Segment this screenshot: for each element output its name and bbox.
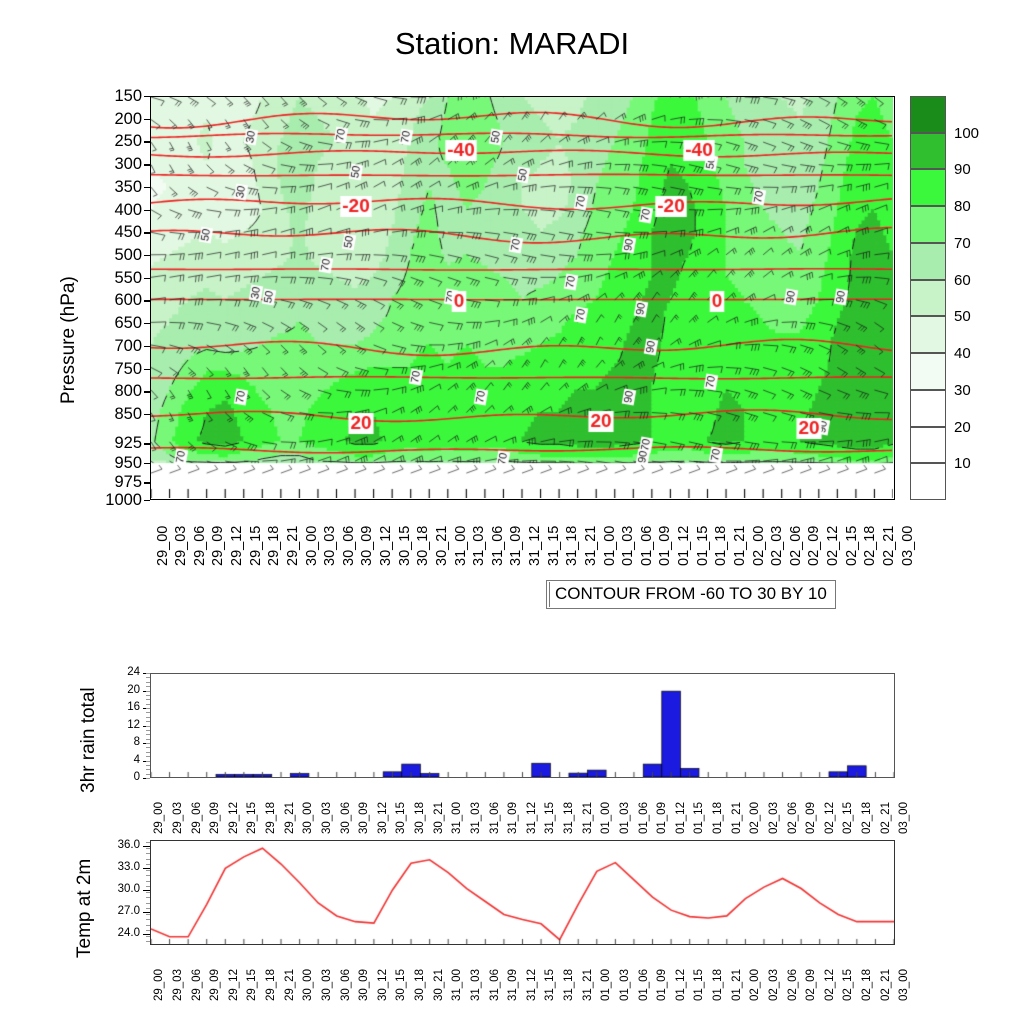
temp-y-minor-tickmark — [146, 936, 150, 937]
temp-x-tick: 02_12 — [825, 969, 837, 1001]
temp-y-tick: 36.0 — [100, 840, 140, 852]
colorbar-tick-label: 70 — [954, 236, 971, 251]
rain-y-minor-tickmark — [146, 708, 150, 709]
cross-section-x-tick: 29_09 — [211, 526, 226, 566]
cross-section-x-tick: 31_06 — [491, 526, 506, 566]
cross-section-x-tick: 30_00 — [305, 526, 320, 566]
rain-y-minor-tickmark — [146, 752, 150, 753]
temp-x-tick: 02_00 — [750, 969, 762, 1001]
rain-y-minor-tickmark — [146, 769, 150, 770]
rain-x-tick: 01_03 — [620, 802, 632, 834]
temp-x-tick: 31_15 — [545, 969, 557, 1001]
temp-x-tick: 30_18 — [415, 969, 427, 1001]
cross-section-y-tick: 500 — [82, 247, 142, 264]
temp-x-tick: 31_03 — [471, 969, 483, 1001]
cross-section-x-tick: 29_18 — [267, 526, 282, 566]
cross-section-x-tick: 02_18 — [863, 526, 878, 566]
rain-y-minor-tickmark — [146, 730, 150, 731]
temp-y-minor-tickmark — [146, 886, 150, 887]
cross-section-y-tick: 150 — [82, 88, 142, 105]
temp-y-minor-tickmark — [146, 908, 150, 909]
cross-section-y-tick: 350 — [82, 179, 142, 196]
cross-section-y-tick: 250 — [82, 133, 142, 150]
cross-section-x-tick: 30_03 — [323, 526, 338, 566]
rain-x-tick: 31_00 — [452, 802, 464, 834]
colorbar-band — [910, 169, 946, 206]
temp-y-minor-tickmark — [146, 842, 150, 843]
rain-y-minor-tickmark — [146, 682, 150, 683]
cross-section-x-tick: 30_09 — [360, 526, 375, 566]
temp-x-tick: 30_06 — [341, 969, 353, 1001]
cross-section-y-tick: 975 — [82, 474, 142, 491]
colorbar-tick-label: 80 — [954, 199, 971, 214]
cross-section-y-tickmark — [144, 119, 150, 120]
rain-y-minor-tickmark — [146, 734, 150, 735]
rain-y-minor-tickmark — [146, 691, 150, 692]
colorbar-band — [910, 316, 946, 353]
temp-x-tick: 30_21 — [434, 969, 446, 1001]
cross-section-y-axis-title: Pressure (hPa) — [58, 276, 80, 404]
cross-section-x-tick: 01_03 — [621, 526, 636, 566]
rain-x-tick: 29_12 — [229, 802, 241, 834]
rain-plot — [150, 673, 895, 778]
temp-x-tick: 30_12 — [378, 969, 390, 1001]
cross-section-y-tickmark — [144, 300, 150, 301]
temp-y-minor-tickmark — [146, 892, 150, 893]
rain-x-tick: 01_18 — [713, 802, 725, 834]
temp-x-tick: 30_15 — [396, 969, 408, 1001]
rain-y-minor-tickmark — [146, 717, 150, 718]
cross-section-y-tickmark — [144, 278, 150, 279]
temp-y-minor-tickmark — [146, 903, 150, 904]
rain-x-tick: 29_18 — [266, 802, 278, 834]
colorbar-band — [910, 353, 946, 390]
temp-y-tick: 27.0 — [100, 906, 140, 918]
cross-section-y-tick: 400 — [82, 202, 142, 219]
rain-y-tick: 8 — [106, 737, 140, 749]
colorbar-tick-label: 90 — [954, 162, 971, 177]
cross-section-x-tick: 31_21 — [584, 526, 599, 566]
colorbar-band — [910, 427, 946, 464]
temp-x-tick: 01_18 — [713, 969, 725, 1001]
rain-x-tick: 29_09 — [210, 802, 222, 834]
temp-x-tick: 02_18 — [862, 969, 874, 1001]
rain-x-tick: 02_09 — [806, 802, 818, 834]
cross-section-y-tickmark — [144, 210, 150, 211]
rain-y-tick: 0 — [106, 772, 140, 784]
cross-section-canvas — [151, 97, 893, 498]
temp-y-minor-tickmark — [146, 875, 150, 876]
cross-section-x-tick: 29_12 — [230, 526, 245, 566]
rain-y-tick: 12 — [106, 720, 140, 732]
rain-x-tick: 01_09 — [657, 802, 669, 834]
cross-section-x-tick: 02_21 — [882, 526, 897, 566]
temp-x-tick: 29_21 — [285, 969, 297, 1001]
temp-y-minor-tickmark — [146, 897, 150, 898]
colorbar-band — [910, 96, 946, 133]
rain-x-tick: 30_00 — [303, 802, 315, 834]
temp-x-tick: 29_15 — [247, 969, 259, 1001]
cross-section-y-tickmark — [144, 346, 150, 347]
cross-section-x-tick: 01_15 — [696, 526, 711, 566]
temp-y-axis-title: Temp at 2m — [74, 859, 96, 958]
meteogram-page: Station: MARADI 150200250300350400450500… — [0, 0, 1024, 1024]
contour-note: CONTOUR FROM -60 TO 30 BY 10 — [546, 580, 836, 609]
rain-canvas — [151, 674, 894, 777]
cross-section-x-tick: 01_18 — [714, 526, 729, 566]
cross-section-x-tick: 31_12 — [528, 526, 543, 566]
temp-x-tick: 31_12 — [527, 969, 539, 1001]
rain-x-tick: 30_15 — [396, 802, 408, 834]
rain-y-minor-tickmark — [146, 726, 150, 727]
cross-section-x-tick: 02_15 — [845, 526, 860, 566]
cross-section-y-tickmark — [144, 141, 150, 142]
cross-section-y-tick: 950 — [82, 455, 142, 472]
rain-y-axis-title: 3hr rain total — [78, 687, 100, 793]
temp-x-tick: 29_18 — [266, 969, 278, 1001]
cross-section-x-tick: 30_21 — [435, 526, 450, 566]
temp-x-tick: 31_09 — [508, 969, 520, 1001]
temp-x-tick: 01_09 — [657, 969, 669, 1001]
cross-section-y-tick: 600 — [82, 292, 142, 309]
cross-section-x-tick: 02_00 — [752, 526, 767, 566]
rain-x-tick: 02_15 — [843, 802, 855, 834]
temp-y-minor-tickmark — [146, 864, 150, 865]
temp-x-tick: 01_06 — [639, 969, 651, 1001]
rain-y-minor-tickmark — [146, 778, 150, 779]
cross-section-y-tickmark — [144, 443, 150, 444]
colorbar-tick-label: 40 — [954, 346, 971, 361]
cross-section-y-tickmark — [144, 482, 150, 483]
rain-y-minor-tickmark — [146, 761, 150, 762]
rain-x-tick: 02_03 — [769, 802, 781, 834]
cross-section-plot — [150, 96, 895, 500]
cross-section-y-tickmark — [144, 96, 150, 97]
rain-x-tick: 01_06 — [639, 802, 651, 834]
rain-x-tick: 30_03 — [322, 802, 334, 834]
temp-x-tick: 31_00 — [452, 969, 464, 1001]
cross-section-x-tick: 30_06 — [342, 526, 357, 566]
cross-section-x-tick: 29_03 — [174, 526, 189, 566]
temp-x-tick: 29_12 — [229, 969, 241, 1001]
temp-x-tick: 29_00 — [154, 969, 166, 1001]
cross-section-y-tickmark — [144, 414, 150, 415]
temp-y-minor-tickmark — [146, 870, 150, 871]
cross-section-x-tick: 01_09 — [658, 526, 673, 566]
cross-section-x-tick: 29_06 — [193, 526, 208, 566]
temp-canvas — [151, 841, 894, 944]
temp-plot — [150, 840, 895, 945]
temp-x-tick: 02_21 — [881, 969, 893, 1001]
cross-section-y-tick: 200 — [82, 111, 142, 128]
rain-y-minor-tickmark — [146, 673, 150, 674]
colorbar-tick-label: 50 — [954, 309, 971, 324]
cross-section-y-tickmark — [144, 164, 150, 165]
rain-y-minor-tickmark — [146, 712, 150, 713]
rain-x-tick: 01_15 — [694, 802, 706, 834]
rain-x-tick: 31_12 — [527, 802, 539, 834]
colorbar-tick-label: 10 — [954, 456, 971, 471]
temp-x-tick: 02_03 — [769, 969, 781, 1001]
cross-section-y-tick: 800 — [82, 383, 142, 400]
temp-y-minor-tickmark — [146, 848, 150, 849]
rain-y-tick: 24 — [106, 667, 140, 679]
temp-x-tick: 03_00 — [899, 969, 911, 1001]
rain-x-tick: 03_00 — [899, 802, 911, 834]
cross-section-y-tickmark — [144, 187, 150, 188]
rain-y-minor-tickmark — [146, 747, 150, 748]
rain-x-tick: 02_21 — [881, 802, 893, 834]
colorbar-tick-label: 30 — [954, 383, 971, 398]
page-title: Station: MARADI — [0, 26, 1024, 62]
rain-y-minor-tickmark — [146, 686, 150, 687]
colorbar-tick-label: 20 — [954, 420, 971, 435]
rain-y-minor-tickmark — [146, 699, 150, 700]
temp-x-tick: 29_03 — [173, 969, 185, 1001]
temp-x-tick: 31_06 — [490, 969, 502, 1001]
rain-x-tick: 02_06 — [788, 802, 800, 834]
temp-y-tick: 33.0 — [100, 862, 140, 874]
cross-section-x-tick: 01_21 — [733, 526, 748, 566]
colorbar-tick-label: 60 — [954, 273, 971, 288]
temp-y-minor-tickmark — [146, 919, 150, 920]
cross-section-y-tick: 750 — [82, 361, 142, 378]
cross-section-x-tick: 01_12 — [677, 526, 692, 566]
colorbar-band — [910, 390, 946, 427]
colorbar-band — [910, 280, 946, 317]
rain-x-tick: 30_12 — [378, 802, 390, 834]
cross-section-x-tick: 31_15 — [547, 526, 562, 566]
rain-y-minor-tickmark — [146, 774, 150, 775]
temp-x-tick: 02_09 — [806, 969, 818, 1001]
rain-y-tick: 20 — [106, 685, 140, 697]
cross-section-x-tick: 01_06 — [640, 526, 655, 566]
cross-section-y-tickmark — [144, 391, 150, 392]
rain-y-minor-tickmark — [146, 739, 150, 740]
rain-y-tick: 16 — [106, 702, 140, 714]
temp-x-tick: 01_03 — [620, 969, 632, 1001]
temp-y-tick: 24.0 — [100, 928, 140, 940]
rain-x-tick: 02_12 — [825, 802, 837, 834]
cross-section-x-tick: 29_15 — [249, 526, 264, 566]
rain-x-tick: 30_09 — [359, 802, 371, 834]
cross-section-x-tick: 02_12 — [826, 526, 841, 566]
cross-section-y-tick: 700 — [82, 338, 142, 355]
cross-section-y-tickmark — [144, 369, 150, 370]
rain-x-tick: 01_21 — [732, 802, 744, 834]
colorbar: 102030405060708090100 — [910, 96, 946, 500]
temp-x-tick: 02_06 — [788, 969, 800, 1001]
cross-section-x-tick: 02_06 — [789, 526, 804, 566]
temp-y-minor-tickmark — [146, 881, 150, 882]
temp-y-minor-tickmark — [146, 930, 150, 931]
rain-x-tick: 31_03 — [471, 802, 483, 834]
temp-y-minor-tickmark — [146, 859, 150, 860]
rain-x-tick: 02_18 — [862, 802, 874, 834]
temp-x-tick: 31_18 — [564, 969, 576, 1001]
rain-y-tick: 4 — [106, 755, 140, 767]
rain-x-tick: 31_15 — [545, 802, 557, 834]
colorbar-tick-label: 100 — [954, 126, 979, 141]
temp-x-tick: 29_09 — [210, 969, 222, 1001]
cross-section-y-tickmark — [144, 463, 150, 464]
colorbar-band — [910, 463, 946, 500]
rain-x-tick: 29_06 — [192, 802, 204, 834]
cross-section-x-tick: 29_00 — [156, 526, 171, 566]
temp-x-tick: 30_03 — [322, 969, 334, 1001]
rain-x-tick: 30_18 — [415, 802, 427, 834]
cross-section-y-tick: 925 — [82, 435, 142, 452]
rain-y-minor-tickmark — [146, 721, 150, 722]
cross-section-y-tickmark — [144, 255, 150, 256]
temp-x-tick: 30_00 — [303, 969, 315, 1001]
cross-section-y-tick: 1000 — [82, 492, 142, 509]
rain-y-minor-tickmark — [146, 743, 150, 744]
rain-y-minor-tickmark — [146, 704, 150, 705]
cross-section-y-tickmark — [144, 232, 150, 233]
rain-x-tick: 01_00 — [601, 802, 613, 834]
rain-x-tick: 31_06 — [490, 802, 502, 834]
rain-x-tick: 01_12 — [676, 802, 688, 834]
cross-section-x-tick: 31_18 — [565, 526, 580, 566]
rain-x-tick: 29_00 — [154, 802, 166, 834]
temp-y-minor-tickmark — [146, 941, 150, 942]
rain-x-tick: 31_18 — [564, 802, 576, 834]
colorbar-band — [910, 133, 946, 170]
temp-x-tick: 01_12 — [676, 969, 688, 1001]
rain-x-tick: 30_06 — [341, 802, 353, 834]
colorbar-band — [910, 206, 946, 243]
rain-x-tick: 31_21 — [583, 802, 595, 834]
cross-section-y-tick: 650 — [82, 315, 142, 332]
colorbar-band — [910, 243, 946, 280]
temp-y-tick: 30.0 — [100, 884, 140, 896]
cross-section-x-tick: 31_00 — [454, 526, 469, 566]
cross-section-x-tick: 02_03 — [770, 526, 785, 566]
rain-x-tick: 29_03 — [173, 802, 185, 834]
temp-y-minor-tickmark — [146, 914, 150, 915]
cross-section-x-tick: 01_00 — [603, 526, 618, 566]
rain-y-minor-tickmark — [146, 677, 150, 678]
cross-section-x-tick: 29_21 — [286, 526, 301, 566]
temp-y-minor-tickmark — [146, 853, 150, 854]
temp-x-tick: 29_06 — [192, 969, 204, 1001]
rain-x-tick: 30_21 — [434, 802, 446, 834]
rain-y-minor-tickmark — [146, 695, 150, 696]
cross-section-x-tick: 30_15 — [398, 526, 413, 566]
cross-section-x-tick: 30_18 — [416, 526, 431, 566]
cross-section-x-tick: 30_12 — [379, 526, 394, 566]
cross-section-y-tickmark — [144, 323, 150, 324]
rain-y-minor-tickmark — [146, 765, 150, 766]
cross-section-x-tick: 31_09 — [509, 526, 524, 566]
temp-x-tick: 01_21 — [732, 969, 744, 1001]
temp-y-minor-tickmark — [146, 925, 150, 926]
cross-section-x-tick: 31_03 — [472, 526, 487, 566]
cross-section-y-tickmark — [144, 500, 150, 501]
rain-x-tick: 31_09 — [508, 802, 520, 834]
temp-x-tick: 01_15 — [694, 969, 706, 1001]
temp-x-tick: 30_09 — [359, 969, 371, 1001]
rain-x-tick: 02_00 — [750, 802, 762, 834]
temp-x-tick: 31_21 — [583, 969, 595, 1001]
cross-section-y-tick: 300 — [82, 156, 142, 173]
temp-x-tick: 02_15 — [843, 969, 855, 1001]
cross-section-y-tick: 550 — [82, 270, 142, 287]
rain-x-tick: 29_21 — [285, 802, 297, 834]
cross-section-x-tick: 02_09 — [807, 526, 822, 566]
cross-section-y-tick: 450 — [82, 224, 142, 241]
cross-section-y-tick: 850 — [82, 406, 142, 423]
temp-x-tick: 01_00 — [601, 969, 613, 1001]
cross-section-x-tick: 03_00 — [901, 526, 916, 566]
rain-x-tick: 29_15 — [247, 802, 259, 834]
rain-y-minor-tickmark — [146, 756, 150, 757]
